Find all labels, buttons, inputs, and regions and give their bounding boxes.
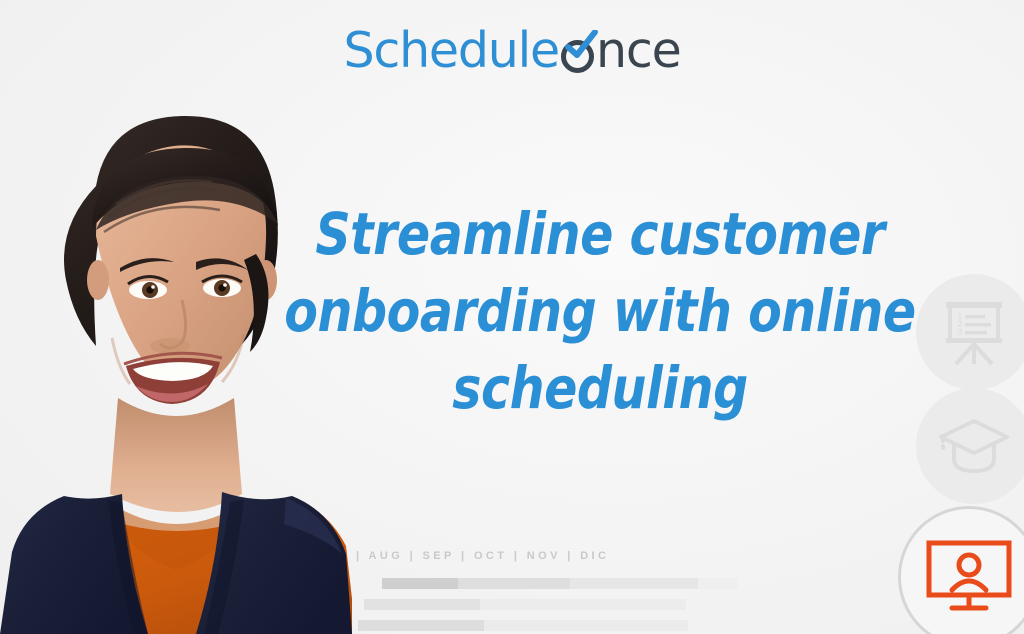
logo-text-schedule: Schedule: [343, 26, 559, 75]
graduation-cap-icon[interactable]: [916, 388, 1024, 504]
graduation-cap-glyph: [937, 415, 1011, 477]
timeline-segment: [698, 578, 738, 589]
timeline-segment: [358, 620, 484, 631]
hero-person-photo: [0, 68, 352, 634]
logo-text-nce: nce: [596, 26, 681, 75]
timeline-segment: [570, 578, 698, 589]
timeline-segment: [382, 578, 458, 589]
presentation-board-icon[interactable]: 1 2 3: [916, 274, 1024, 390]
webinar-monitor-person-icon[interactable]: [898, 506, 1024, 634]
timeline-segment: [484, 620, 688, 631]
timeline-row-3: [328, 620, 688, 631]
timeline-row-2: [328, 599, 688, 610]
timeline-row-1: [328, 578, 688, 589]
monitor-person-glyph: [926, 540, 1012, 614]
timeline-month-labels: | AUG | SEP | OCT | NOV | DIC: [356, 550, 609, 562]
person-illustration: [0, 68, 352, 634]
presentation-board-glyph: 1 2 3: [938, 296, 1010, 368]
timeline-bars: [328, 578, 688, 634]
timeline-strip: | AUG | SEP | OCT | NOV | DIC: [352, 544, 692, 634]
hero-headline: Streamline customer onboarding with onli…: [282, 196, 917, 427]
logo-checkmark-icon: [564, 30, 598, 60]
slide-canvas: Schedule nce Streamline customer onboard…: [0, 0, 1024, 634]
timeline-segment: [458, 578, 570, 589]
circle-check-o-icon: [558, 34, 598, 74]
svg-text:3: 3: [957, 328, 963, 338]
timeline-segment: [480, 599, 686, 610]
timeline-segment: [364, 599, 480, 610]
scheduleonce-logo[interactable]: Schedule nce: [0, 26, 1024, 75]
